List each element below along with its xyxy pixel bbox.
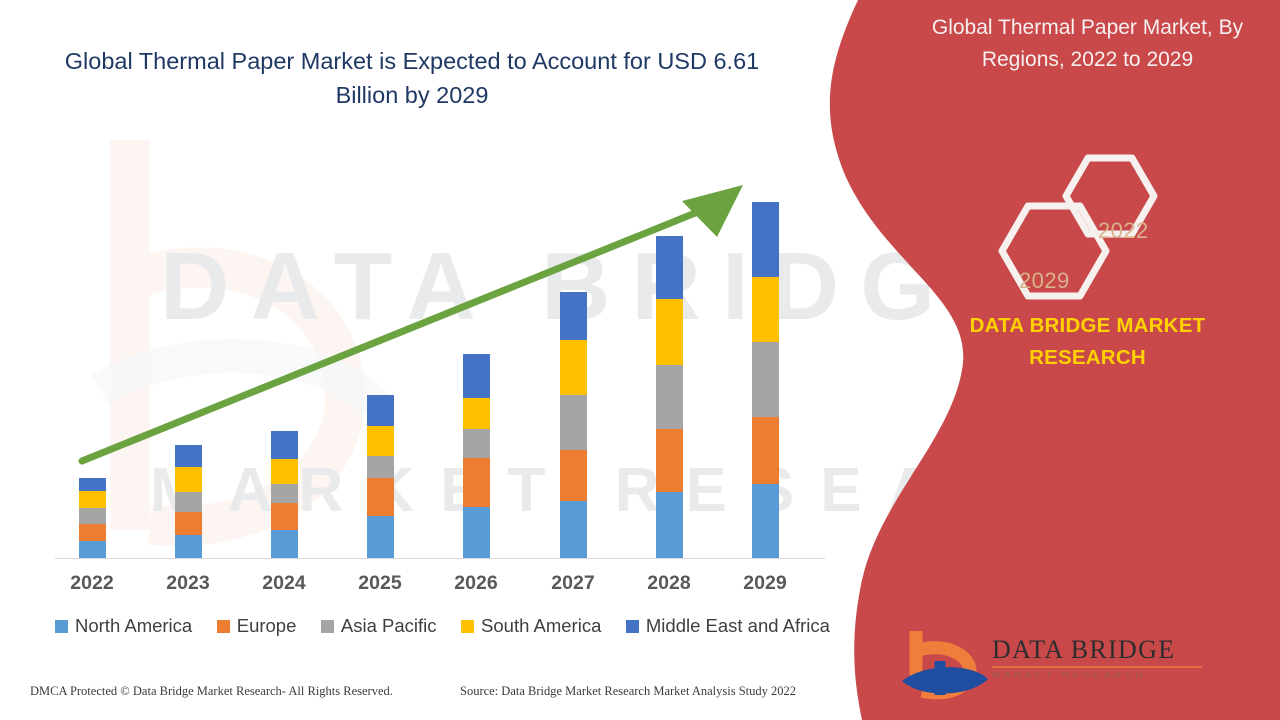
bar-segment-south-america bbox=[367, 426, 394, 456]
bar-segment-middle-east-and-africa bbox=[656, 236, 683, 299]
stacked-bar-chart bbox=[55, 150, 825, 562]
x-label-2023: 2023 bbox=[143, 572, 233, 595]
bar-segment-south-america bbox=[175, 467, 202, 492]
bar-segment-south-america bbox=[752, 277, 779, 342]
hex-label-start: 2022 bbox=[1098, 218, 1149, 244]
footer-source: Source: Data Bridge Market Research Mark… bbox=[460, 684, 796, 699]
company-logo: DATA BRIDGE MARKET RESEARCH bbox=[900, 625, 1240, 703]
bar-2023 bbox=[175, 445, 202, 558]
x-axis-line bbox=[55, 558, 825, 559]
footer-copyright: DMCA Protected © Data Bridge Market Rese… bbox=[30, 684, 393, 699]
bar-segment-north-america bbox=[752, 484, 779, 558]
bar-segment-asia-pacific bbox=[656, 365, 683, 429]
bar-segment-europe bbox=[271, 503, 298, 530]
bar-segment-south-america bbox=[79, 491, 106, 508]
bar-segment-north-america bbox=[271, 530, 298, 558]
panel-title: Global Thermal Paper Market, By Regions,… bbox=[900, 12, 1275, 75]
page-title: Global Thermal Paper Market is Expected … bbox=[62, 44, 762, 112]
bar-segment-asia-pacific bbox=[752, 342, 779, 417]
bar-segment-asia-pacific bbox=[367, 456, 394, 478]
bar-segment-europe bbox=[752, 417, 779, 484]
bar-segment-middle-east-and-africa bbox=[463, 354, 490, 398]
bar-segment-asia-pacific bbox=[79, 508, 106, 524]
bar-segment-middle-east-and-africa bbox=[752, 202, 779, 277]
bar-segment-europe bbox=[656, 429, 683, 492]
bar-segment-north-america bbox=[79, 541, 106, 558]
legend-label: North America bbox=[75, 615, 192, 637]
hexagon-outline-icon bbox=[980, 150, 1200, 305]
bar-segment-europe bbox=[367, 478, 394, 516]
legend-item-middle-east-and-africa[interactable]: Middle East and Africa bbox=[626, 615, 830, 637]
x-label-2027: 2027 bbox=[528, 572, 618, 595]
hex-label-end: 2029 bbox=[1019, 268, 1070, 294]
legend-swatch-icon bbox=[626, 620, 639, 633]
x-label-2028: 2028 bbox=[624, 572, 714, 595]
bar-segment-asia-pacific bbox=[560, 395, 587, 450]
bar-segment-south-america bbox=[560, 340, 587, 395]
legend-label: South America bbox=[481, 615, 601, 637]
bar-segment-asia-pacific bbox=[271, 484, 298, 503]
bar-2027 bbox=[560, 292, 587, 558]
bar-segment-north-america bbox=[656, 492, 683, 558]
x-label-2026: 2026 bbox=[431, 572, 521, 595]
x-label-2024: 2024 bbox=[239, 572, 329, 595]
bar-segment-middle-east-and-africa bbox=[367, 395, 394, 426]
bar-2026 bbox=[463, 354, 490, 558]
bar-2024 bbox=[271, 431, 298, 558]
chart-legend: North AmericaEuropeAsia PacificSouth Ame… bbox=[55, 615, 830, 637]
bar-segment-south-america bbox=[656, 299, 683, 365]
chart-plot-area bbox=[55, 150, 825, 558]
legend-item-south-america[interactable]: South America bbox=[461, 615, 601, 637]
legend-item-asia-pacific[interactable]: Asia Pacific bbox=[321, 615, 437, 637]
bar-segment-north-america bbox=[367, 516, 394, 558]
bar-segment-middle-east-and-africa bbox=[79, 478, 106, 491]
bar-segment-europe bbox=[175, 512, 202, 535]
bar-segment-asia-pacific bbox=[463, 429, 490, 458]
legend-swatch-icon bbox=[461, 620, 474, 633]
data-bridge-logo-icon bbox=[900, 625, 992, 703]
logo-title: DATA BRIDGE bbox=[992, 637, 1232, 663]
brand-line-2: RESEARCH bbox=[900, 342, 1275, 374]
logo-divider bbox=[992, 666, 1202, 668]
brand-name: DATA BRIDGE MARKET RESEARCH bbox=[900, 310, 1275, 374]
bar-segment-north-america bbox=[175, 535, 202, 558]
legend-item-europe[interactable]: Europe bbox=[217, 615, 297, 637]
bar-2029 bbox=[752, 202, 779, 558]
hexagon-badges: 2022 2029 bbox=[980, 150, 1200, 305]
infographic-canvas: DATA BRIDGE MARKET RESEARCH Global Therm… bbox=[0, 0, 1280, 720]
bar-segment-middle-east-and-africa bbox=[271, 431, 298, 459]
bar-2025 bbox=[367, 395, 394, 558]
bar-segment-north-america bbox=[560, 501, 587, 558]
bar-segment-middle-east-and-africa bbox=[560, 292, 587, 340]
logo-subtitle: MARKET RESEARCH bbox=[992, 671, 1232, 681]
legend-label: Europe bbox=[237, 615, 297, 637]
legend-label: Asia Pacific bbox=[341, 615, 437, 637]
brand-line-1: DATA BRIDGE MARKET bbox=[900, 310, 1275, 342]
x-axis-labels: 20222023202420252026202720282029 bbox=[55, 572, 825, 602]
footer: DMCA Protected © Data Bridge Market Rese… bbox=[0, 684, 850, 710]
legend-swatch-icon bbox=[217, 620, 230, 633]
logo-text: DATA BRIDGE MARKET RESEARCH bbox=[992, 637, 1232, 681]
bar-segment-north-america bbox=[463, 507, 490, 558]
legend-item-north-america[interactable]: North America bbox=[55, 615, 192, 637]
x-label-2029: 2029 bbox=[720, 572, 810, 595]
bar-segment-europe bbox=[560, 450, 587, 501]
legend-swatch-icon bbox=[321, 620, 334, 633]
legend-label: Middle East and Africa bbox=[646, 615, 830, 637]
x-label-2025: 2025 bbox=[335, 572, 425, 595]
bar-2028 bbox=[656, 236, 683, 558]
bar-segment-south-america bbox=[463, 398, 490, 429]
panel-content: Global Thermal Paper Market, By Regions,… bbox=[900, 0, 1280, 720]
bar-segment-south-america bbox=[271, 459, 298, 484]
bar-segment-europe bbox=[463, 458, 490, 507]
legend-swatch-icon bbox=[55, 620, 68, 633]
bar-segment-middle-east-and-africa bbox=[175, 445, 202, 467]
bar-2022 bbox=[79, 478, 106, 558]
x-label-2022: 2022 bbox=[47, 572, 137, 595]
bar-segment-asia-pacific bbox=[175, 492, 202, 512]
bar-segment-europe bbox=[79, 524, 106, 541]
